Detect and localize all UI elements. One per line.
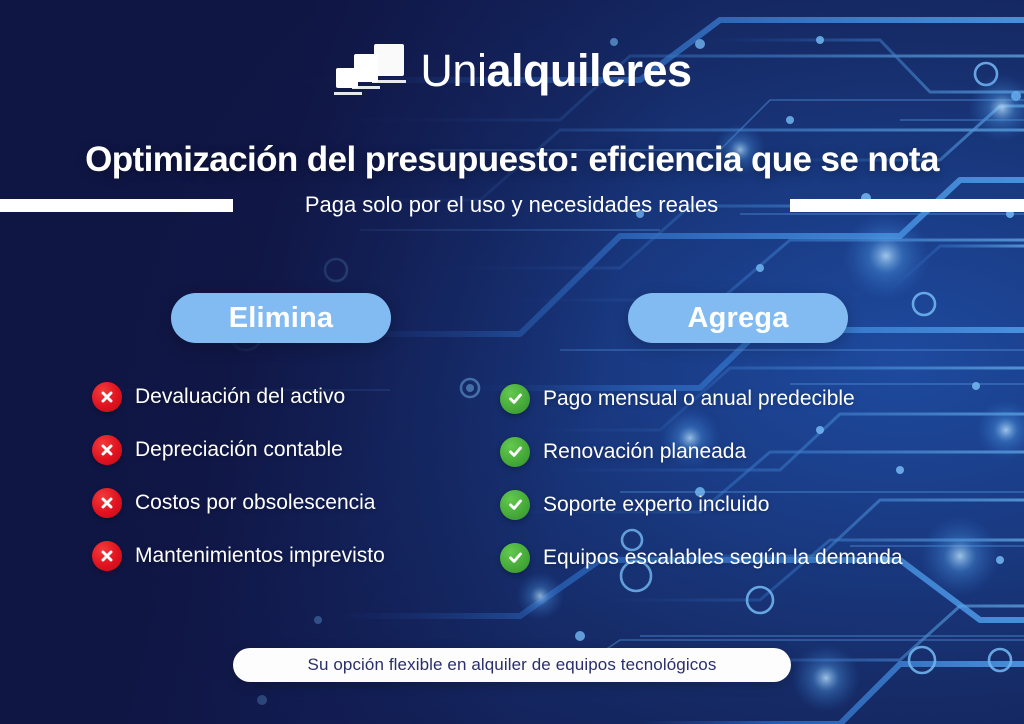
circle-check-icon: [500, 437, 530, 467]
brand-name-light: Uni: [420, 45, 486, 96]
list-item-label: Depreciación contable: [135, 438, 343, 462]
brand-name: Unialquileres: [420, 48, 691, 93]
circle-x-icon: [92, 541, 122, 571]
circle-x-icon: [92, 382, 122, 412]
list-item: Pago mensual o anual predecible: [500, 372, 1000, 425]
list-item-label: Costos por obsolescencia: [135, 491, 375, 515]
circle-check-icon: [500, 543, 530, 573]
elimina-list: Devaluación del activo Depreciación cont…: [92, 370, 492, 582]
list-item: Costos por obsolescencia: [92, 476, 492, 529]
column-header-agrega: Agrega: [628, 293, 848, 343]
list-item: Mantenimientos imprevisto: [92, 529, 492, 582]
circle-x-icon: [92, 488, 122, 518]
brand-logo: Unialquileres: [0, 42, 1024, 98]
list-item-label: Pago mensual o anual predecible: [543, 387, 855, 411]
list-item-label: Equipos escalables según la demanda: [543, 546, 903, 570]
list-item-label: Soporte experto incluido: [543, 493, 769, 517]
list-item-label: Renovación planeada: [543, 440, 746, 464]
brand-name-bold: alquileres: [486, 45, 691, 96]
infographic-canvas: Unialquileres Optimización del presupues…: [0, 0, 1024, 724]
page-title: Optimización del presupuesto: eficiencia…: [0, 140, 1024, 180]
list-item-label: Mantenimientos imprevisto: [135, 544, 385, 568]
circle-check-icon: [500, 490, 530, 520]
list-item: Soporte experto incluido: [500, 478, 1000, 531]
list-item-label: Devaluación del activo: [135, 385, 345, 409]
column-header-elimina: Elimina: [171, 293, 391, 343]
footer-tagline: Su opción flexible en alquiler de equipo…: [233, 648, 791, 682]
agrega-list: Pago mensual o anual predecible Renovaci…: [500, 372, 1000, 584]
divider-bar-right: [790, 199, 1024, 212]
list-item: Renovación planeada: [500, 425, 1000, 478]
list-item: Equipos escalables según la demanda: [500, 531, 1000, 584]
devices-monitor-icon: [332, 42, 406, 98]
page-subtitle: Paga solo por el uso y necesidades reale…: [233, 192, 790, 218]
list-item: Devaluación del activo: [92, 370, 492, 423]
circle-x-icon: [92, 435, 122, 465]
divider-bar-left: [0, 199, 233, 212]
circle-check-icon: [500, 384, 530, 414]
subtitle-row: Paga solo por el uso y necesidades reale…: [0, 190, 1024, 220]
list-item: Depreciación contable: [92, 423, 492, 476]
